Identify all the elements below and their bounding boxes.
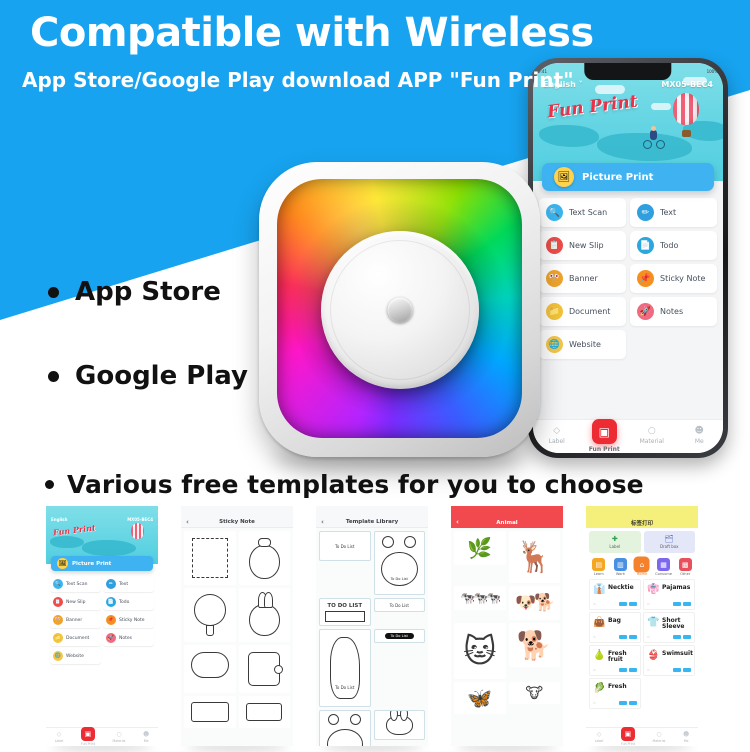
screen-title: Template Library [346, 519, 398, 525]
thumb-phone-animal: ‹ Animal 🌿 🦌 🐄🐄🐄 🐶🐕 🐱 🐕 🦋 🐮 [451, 506, 563, 746]
label-item-size: ▭ [593, 602, 596, 606]
deer-icon: 🦌 [516, 540, 553, 575]
picture-print-button[interactable]: 🖼 Picture Print [51, 556, 153, 571]
circle-icon: ○ [116, 731, 121, 738]
swimsuit-icon: 👙 [647, 650, 659, 661]
label-item-size: ▭ [647, 668, 650, 672]
todo-icon: 📄 [637, 237, 654, 254]
menu-item-label: Website [569, 340, 601, 349]
phone-frame: ‹ Animal 🌿 🦌 🐄🐄🐄 🐶🐕 🐱 🐕 🦋 🐮 [451, 506, 563, 528]
label-item-size: ▭ [647, 602, 650, 606]
phone-frame: ‹ Template Library To Do List To Do List… [316, 506, 428, 528]
bag-icon: 👜 [593, 617, 605, 628]
template-card[interactable] [239, 645, 291, 693]
phone-frame: 标签打印 ✚Label🗂Draft box ▤Learn▥Work⌂Home▦C… [586, 506, 698, 709]
slip-icon: 📋 [546, 237, 563, 254]
sticker-card[interactable]: 🦌 [509, 531, 561, 583]
text-scan-icon: 🔍 [546, 204, 563, 221]
menu-item-text-scan[interactable]: 🔍Text Scan [539, 198, 626, 227]
pajamas-icon: 👘 [647, 584, 659, 595]
label-item-size: ▭ [647, 635, 650, 639]
label-item-name: Swimsuit [662, 651, 693, 657]
nav-item-label: Me [684, 739, 689, 743]
menu-item-label: Notes [660, 307, 683, 316]
book-icon: ▤ [592, 558, 605, 571]
menu-item-label: Document [66, 636, 89, 641]
sticky-note-screen: ‹ Sticky Note [181, 506, 293, 528]
screen-header: ‹ Animal [451, 506, 563, 528]
banner-icon: 🎌 [546, 270, 563, 287]
leaves-icon: 🌿 [467, 536, 492, 560]
menu-item-label: Website [66, 654, 84, 659]
menu-item-label: Text Scan [66, 582, 87, 587]
template-card[interactable]: To Do List [374, 629, 426, 643]
picture-print-label: Picture Print [582, 172, 653, 183]
cloud-icon [651, 103, 671, 110]
template-card[interactable] [374, 710, 426, 740]
cyclist-icon [643, 129, 665, 149]
label-item-name: Bag [608, 618, 621, 624]
label-categories: ▤Learn▥Work⌂Home▦Consume▩Other [586, 556, 698, 579]
thumb-phone-home: English MX05-BEC4 Fun Print 🖼 Picture Pr… [46, 506, 158, 746]
product-marketing-banner: Compatible with Wireless App Store/Googl… [0, 0, 750, 750]
cat-icon: 🐱 [463, 632, 496, 670]
nav-item-me[interactable]: ☻Me [143, 731, 149, 743]
picture-print-button[interactable]: 🖼 Picture Print [542, 163, 714, 191]
category-label: Other [680, 572, 690, 576]
hot-air-balloon-icon [673, 93, 699, 137]
category-learn[interactable]: ▤Learn [590, 558, 607, 576]
printer-icon: ▣ [621, 727, 635, 741]
label-item-name: Necktie [608, 585, 634, 591]
nav-item-label[interactable]: ◇Label [55, 731, 64, 743]
map-landmass [539, 125, 599, 147]
todo-icon: 📄 [106, 597, 116, 607]
screen-title: Sticky Note [219, 519, 255, 525]
bullet-dot-icon [45, 480, 54, 489]
app-logo: Fun Print [546, 92, 639, 123]
circle-icon: ○ [656, 731, 661, 738]
template-card-label: To Do List [391, 577, 408, 581]
menu-item-document[interactable]: 📁Document [539, 297, 626, 326]
animal-screen: ‹ Animal 🌿 🦌 🐄🐄🐄 🐶🐕 🐱 🐕 🦋 🐮 [451, 506, 563, 528]
screen-title: 标签打印 [631, 519, 653, 527]
sticker-card[interactable]: 🌿 [454, 531, 506, 565]
main-phone-mockup: 9:41 100% [528, 58, 728, 458]
bullet-label: Google Play [75, 361, 248, 391]
label-item-swimsuit[interactable]: 👙Swimsuit▭ [643, 645, 695, 676]
label-item-name: Short Sleeve [662, 618, 694, 631]
bottom-nav-bar: ◇Label▣Fun Print○Material☻Me [533, 419, 723, 453]
nav-item-material[interactable]: ○Material [652, 731, 665, 743]
nav-item-material[interactable]: ○Material [632, 426, 672, 445]
nav-item-label: Material [640, 438, 664, 445]
label-item-necktie[interactable]: 👔Necktie▭ [589, 579, 641, 610]
page-subtitle: App Store/Google Play download APP "Fun … [22, 68, 574, 92]
template-card[interactable] [184, 588, 236, 642]
pencil-icon: ✏ [106, 579, 116, 589]
label-icon: ✚ [612, 535, 618, 543]
template-card[interactable] [184, 645, 236, 693]
template-card[interactable]: To Do List [374, 531, 426, 595]
printer-icon: ▣ [592, 419, 617, 444]
screen-header: ‹ Template Library [316, 506, 428, 528]
label-item-fresh-fruit[interactable]: 🍐Fresh fruit▭ [589, 645, 641, 676]
person-icon: ☻ [695, 426, 704, 436]
cow-icon: 🐮 [525, 684, 543, 702]
screen-title: Animal [496, 520, 517, 526]
nav-item-label: Material [112, 739, 125, 743]
label-item-actions[interactable] [619, 668, 637, 672]
thumb-home-screen: English MX05-BEC4 Fun Print 🖼 Picture Pr… [46, 506, 158, 564]
label-item-actions[interactable] [619, 602, 637, 606]
template-card-label: To Do List [385, 633, 414, 639]
screen-header: 标签打印 [586, 506, 698, 528]
menu-item-website[interactable]: 🌐Website [50, 648, 101, 664]
label-item-fresh[interactable]: 🥬Fresh▭ [589, 678, 641, 709]
tshirt-icon: 👕 [647, 617, 659, 628]
menu-item-todo[interactable]: 📄Todo [630, 231, 717, 260]
thumb-phone-label-list: 标签打印 ✚Label🗂Draft box ▤Learn▥Work⌂Home▦C… [586, 506, 698, 746]
nav-item-label[interactable]: ◇Label [595, 731, 604, 743]
sticker-card[interactable]: 🐮 [509, 682, 561, 704]
category-other[interactable]: ▩Other [677, 558, 694, 576]
category-label: Work [616, 572, 625, 576]
back-icon[interactable]: ‹ [186, 518, 189, 526]
necktie-icon: 👔 [593, 584, 605, 595]
template-card[interactable]: To Do List [319, 629, 371, 707]
category-consume[interactable]: ▦Consume [655, 558, 672, 576]
template-grid [181, 528, 293, 746]
bullet-app-store: App Store [48, 277, 221, 307]
printer-icon: ▣ [81, 727, 95, 741]
page-title: Compatible with Wireless [30, 10, 594, 56]
section-title-label: Various free templates for you to choose [67, 470, 644, 499]
sticker-card[interactable]: 🐱 [454, 623, 506, 679]
template-card[interactable]: To Do List [319, 531, 371, 561]
label-tab-label: Label [609, 544, 620, 549]
nav-item-label: Fun Print [621, 742, 635, 746]
label-tab-label: Draft box [660, 544, 679, 549]
bottom-nav-bar: ◇Label▣Fun Print○Material☻Me [46, 727, 158, 746]
cows-icon: 🐄🐄🐄 [460, 591, 499, 605]
menu-item-label: Todo [119, 600, 129, 605]
app-logo: Fun Print [53, 522, 97, 537]
grid-icon: ▩ [679, 558, 692, 571]
menu-item-label: Document [569, 307, 610, 316]
nav-item-fun-print[interactable]: ▣Fun Print [621, 731, 635, 750]
bottom-nav-bar: ◇Label▣Fun Print○Material☻Me [586, 727, 698, 746]
phone-notch [584, 63, 671, 80]
screen-header: ‹ Sticky Note [181, 506, 293, 528]
menu-item-label: Banner [569, 274, 598, 283]
sticker-card[interactable]: 🐄🐄🐄 [454, 586, 506, 610]
label-tab-label[interactable]: ✚Label [589, 531, 641, 553]
template-card-label: To Do List [335, 544, 354, 549]
nav-item-label: Fun Print [589, 446, 620, 453]
label-item-name: Fresh [608, 684, 627, 690]
phone-frame: English MX05-BEC4 Fun Print 🖼 Picture Pr… [46, 506, 158, 564]
puppies-icon: 🐶🐕 [515, 593, 553, 613]
menu-item-banner[interactable]: 🎌Banner [50, 612, 101, 628]
document-icon: 📁 [53, 633, 63, 643]
template-grid: To Do List To Do List TO DO LIST To Do L… [316, 528, 428, 746]
nav-item-fun-print[interactable]: ▣Fun Print [81, 731, 95, 750]
menu-item-text[interactable]: ✏Text [103, 576, 154, 592]
nav-item-label: Me [144, 739, 149, 743]
sticker-card[interactable]: 🐕 [509, 623, 561, 667]
slip-icon: 📋 [53, 597, 63, 607]
label-item-size: ▭ [593, 668, 596, 672]
category-home[interactable]: ⌂Home [633, 558, 650, 576]
rocket-icon: 🚀 [106, 633, 116, 643]
menu-item-label: Sticky Note [119, 618, 145, 623]
thumb-phone-sticky-note: ‹ Sticky Note [181, 506, 293, 746]
template-library-screen: ‹ Template Library To Do List To Do List… [316, 506, 428, 528]
menu-item-sticky-note[interactable]: 📌Sticky Note [103, 612, 154, 628]
label-item-size: ▭ [593, 635, 596, 639]
nav-item-fun-print[interactable]: ▣Fun Print [584, 419, 624, 453]
nav-item-label: Material [652, 739, 665, 743]
app-menu-grid: 🔍Text Scan✏Text📋New Slip📄Todo🎌Banner📌Sti… [46, 574, 158, 666]
menu-item-label: Text Scan [569, 208, 607, 217]
draft-icon: 🗂 [665, 535, 674, 543]
website-icon: 🌐 [53, 651, 63, 661]
bullet-label: App Store [75, 277, 221, 307]
template-heading: TO DO LIST [327, 603, 362, 609]
label-item-size: ▭ [593, 701, 596, 705]
nav-item-label: Fun Print [81, 742, 95, 746]
nav-item-label: Label [595, 739, 604, 743]
menu-item-notes[interactable]: 🚀Notes [630, 297, 717, 326]
rocket-icon: 🚀 [637, 303, 654, 320]
nav-item-material[interactable]: ○Material [112, 731, 125, 743]
label-item-actions[interactable] [673, 602, 691, 606]
tag-icon: ◇ [553, 426, 560, 436]
menu-item-label: Todo [660, 241, 678, 250]
category-work[interactable]: ▥Work [612, 558, 629, 576]
person-icon: ☻ [143, 731, 149, 738]
person-icon: ☻ [683, 731, 689, 738]
label-item-bag[interactable]: 👜Bag▭ [589, 612, 641, 643]
label-item-actions[interactable] [673, 668, 691, 672]
mini-top-bar: English MX05-BEC4 [46, 517, 158, 522]
document-icon: 📁 [546, 303, 563, 320]
fresh-icon: 🥬 [593, 683, 605, 694]
website-icon: 🌐 [546, 336, 563, 353]
back-icon[interactable]: ‹ [321, 518, 324, 526]
app-menu-grid: 🔍Text Scan✏Text📋New Slip📄Todo🎌Banner📌Sti… [533, 195, 723, 362]
menu-item-label: New Slip [66, 600, 85, 605]
label-item-name: Pajamas [662, 585, 690, 591]
menu-item-new-slip[interactable]: 📋New Slip [50, 594, 101, 610]
nav-item-label: Label [55, 739, 64, 743]
template-card[interactable]: TO DO LIST [319, 598, 371, 626]
printer-power-button[interactable] [387, 297, 412, 322]
category-label: Learn [594, 572, 604, 576]
sticker-card[interactable]: 🐶🐕 [509, 586, 561, 620]
label-item-actions[interactable] [673, 635, 691, 639]
template-card[interactable] [239, 696, 291, 728]
dog-icon: 🐕 [517, 629, 552, 662]
label-screen: 标签打印 ✚Label🗂Draft box ▤Learn▥Work⌂Home▦C… [586, 506, 698, 709]
category-label: Consume [655, 572, 672, 576]
picture-print-label: Picture Print [72, 561, 111, 567]
menu-item-text[interactable]: ✏Text [630, 198, 717, 227]
sticker-grid: 🌿 🦌 🐄🐄🐄 🐶🐕 🐱 🐕 🦋 🐮 [451, 528, 563, 746]
label-tab-draft-box[interactable]: 🗂Draft box [644, 531, 696, 553]
template-card[interactable]: To Do List [319, 710, 371, 746]
house-icon: ⌂ [635, 558, 648, 571]
text-scan-icon: 🔍 [53, 579, 63, 589]
template-card[interactable] [239, 531, 291, 585]
menu-item-label: Text [660, 208, 676, 217]
menu-item-label: New Slip [569, 241, 604, 250]
category-label: Home [637, 572, 648, 576]
fruit-icon: 🍐 [593, 650, 605, 661]
nav-item-label[interactable]: ◇Label [537, 426, 577, 445]
label-item-actions[interactable] [619, 701, 637, 705]
menu-item-sticky-note[interactable]: 📌Sticky Note [630, 264, 717, 293]
menu-item-notes[interactable]: 🚀Notes [103, 630, 154, 646]
thumb-phone-template-library: ‹ Template Library To Do List To Do List… [316, 506, 428, 746]
picture-icon: 🖼 [554, 167, 574, 187]
template-card[interactable] [239, 588, 291, 642]
template-card-label: To Do List [390, 603, 409, 608]
nav-item-label: Label [549, 438, 565, 445]
hot-air-balloon-icon [131, 523, 144, 539]
sticker-card[interactable]: 🦋 [454, 682, 506, 714]
label-item-pajamas[interactable]: 👘Pajamas▭ [643, 579, 695, 610]
app-home-screen: 9:41 100% [533, 63, 723, 453]
menu-item-todo[interactable]: 📄Todo [103, 594, 154, 610]
menu-item-new-slip[interactable]: 📋New Slip [539, 231, 626, 260]
label-item-name: Fresh fruit [608, 651, 640, 664]
menu-item-label: Notes [119, 636, 132, 641]
device-id-label: MX05-BEC4 [661, 80, 713, 89]
menu-item-label: Text [119, 582, 128, 587]
mini-photo-printer [259, 162, 540, 457]
bullet-dot-icon [48, 371, 59, 382]
phone-frame: 9:41 100% [528, 58, 728, 458]
menu-item-label: Sticky Note [660, 274, 705, 283]
label-item-short-sleeve[interactable]: 👕Short Sleeve▭ [643, 612, 695, 643]
pencil-icon: ✏ [637, 204, 654, 221]
briefcase-icon: ▥ [614, 558, 627, 571]
nav-item-me[interactable]: ☻Me [683, 731, 689, 743]
template-card[interactable] [184, 531, 236, 585]
banner-icon: 🎌 [53, 615, 63, 625]
cart-icon: ▦ [657, 558, 670, 571]
bullet-dot-icon [48, 287, 59, 298]
back-icon[interactable]: ‹ [456, 518, 459, 526]
sticky-note-icon: 📌 [637, 270, 654, 287]
picture-icon: 🖼 [57, 558, 68, 569]
menu-item-website[interactable]: 🌐Website [539, 330, 626, 359]
label-item-list: 👔Necktie▭👘Pajamas▭👜Bag▭👕Short Sleeve▭🍐Fr… [586, 579, 698, 709]
template-card[interactable]: To Do List [374, 598, 426, 612]
template-card[interactable] [184, 696, 236, 728]
device-id-label: MX05-BEC4 [127, 517, 153, 522]
nav-item-label: Me [695, 438, 704, 445]
circle-icon: ○ [648, 426, 656, 436]
menu-item-label: Banner [66, 618, 82, 623]
menu-item-banner[interactable]: 🎌Banner [539, 264, 626, 293]
tag-icon: ◇ [57, 731, 62, 738]
butterfly-icon: 🦋 [467, 686, 492, 710]
bullet-google-play: Google Play [48, 361, 248, 391]
templates-section-title: Various free templates for you to choose [45, 470, 644, 499]
language-selector[interactable]: English [51, 517, 67, 522]
status-battery: 100% [707, 69, 718, 74]
label-tabs: ✚Label🗂Draft box [586, 528, 698, 556]
menu-item-document[interactable]: 📁Document [50, 630, 101, 646]
nav-item-me[interactable]: ☻Me [679, 426, 719, 445]
sticky-note-icon: 📌 [106, 615, 116, 625]
tag-icon: ◇ [597, 731, 602, 738]
label-item-actions[interactable] [619, 635, 637, 639]
phone-frame: ‹ Sticky Note [181, 506, 293, 528]
menu-item-text-scan[interactable]: 🔍Text Scan [50, 576, 101, 592]
template-card-label: To Do List [335, 685, 354, 690]
